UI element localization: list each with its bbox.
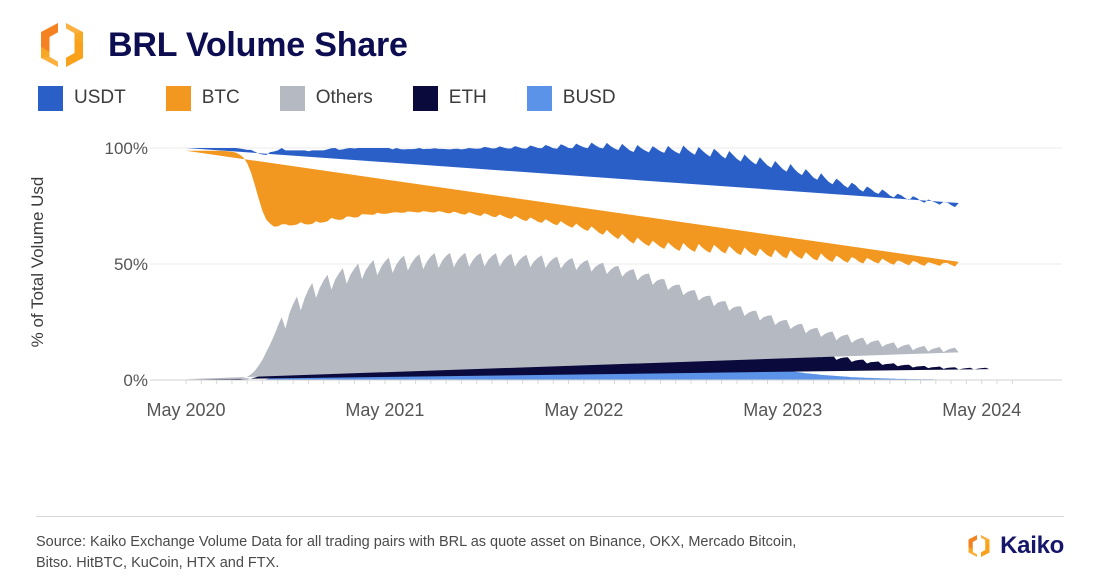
x-tick-label: May 2024 [942,400,1021,420]
chart-container: % of Total Volume Usd 0%50%100%May 2020M… [0,134,1100,454]
x-tick-label: May 2022 [544,400,623,420]
footer-brand: Kaiko [966,532,1064,560]
legend-swatch-busd [527,86,552,111]
legend-item-btc[interactable]: BTC [166,86,240,111]
kaiko-logo-mark-icon [966,533,992,559]
legend-item-others[interactable]: Others [280,86,373,111]
y-tick-label: 50% [114,255,148,274]
footer-divider [36,516,1064,517]
y-tick-label: 0% [123,371,148,390]
legend-item-busd[interactable]: BUSD [527,86,616,111]
y-tick-label: 100% [105,139,148,158]
source-note: Source: Kaiko Exchange Volume Data for a… [36,532,836,574]
legend-label-busd: BUSD [563,87,616,109]
legend-swatch-btc [166,86,191,111]
legend-item-eth[interactable]: ETH [413,86,487,111]
x-tick-label: May 2023 [743,400,822,420]
legend-swatch-eth [413,86,438,111]
x-tick-label: May 2020 [146,400,225,420]
legend-label-btc: BTC [202,87,240,109]
x-tick-label: May 2021 [345,400,424,420]
legend-label-eth: ETH [449,87,487,109]
kaiko-logo-mark-icon [36,19,88,71]
legend-label-others: Others [316,87,373,109]
page-footer: Source: Kaiko Exchange Volume Data for a… [0,516,1100,588]
legend-swatch-usdt [38,86,63,111]
legend-item-usdt[interactable]: USDT [38,86,126,111]
legend-swatch-others [280,86,305,111]
footer-logo-text: Kaiko [1000,532,1064,560]
page-title: BRL Volume Share [108,28,408,62]
page-header: BRL Volume Share [0,0,1100,58]
chart-legend: USDT BTC Others ETH BUSD [0,84,1100,112]
stacked-area-chart[interactable]: 0%50%100%May 2020May 2021May 2022May 202… [0,134,1100,454]
legend-label-usdt: USDT [74,87,126,109]
